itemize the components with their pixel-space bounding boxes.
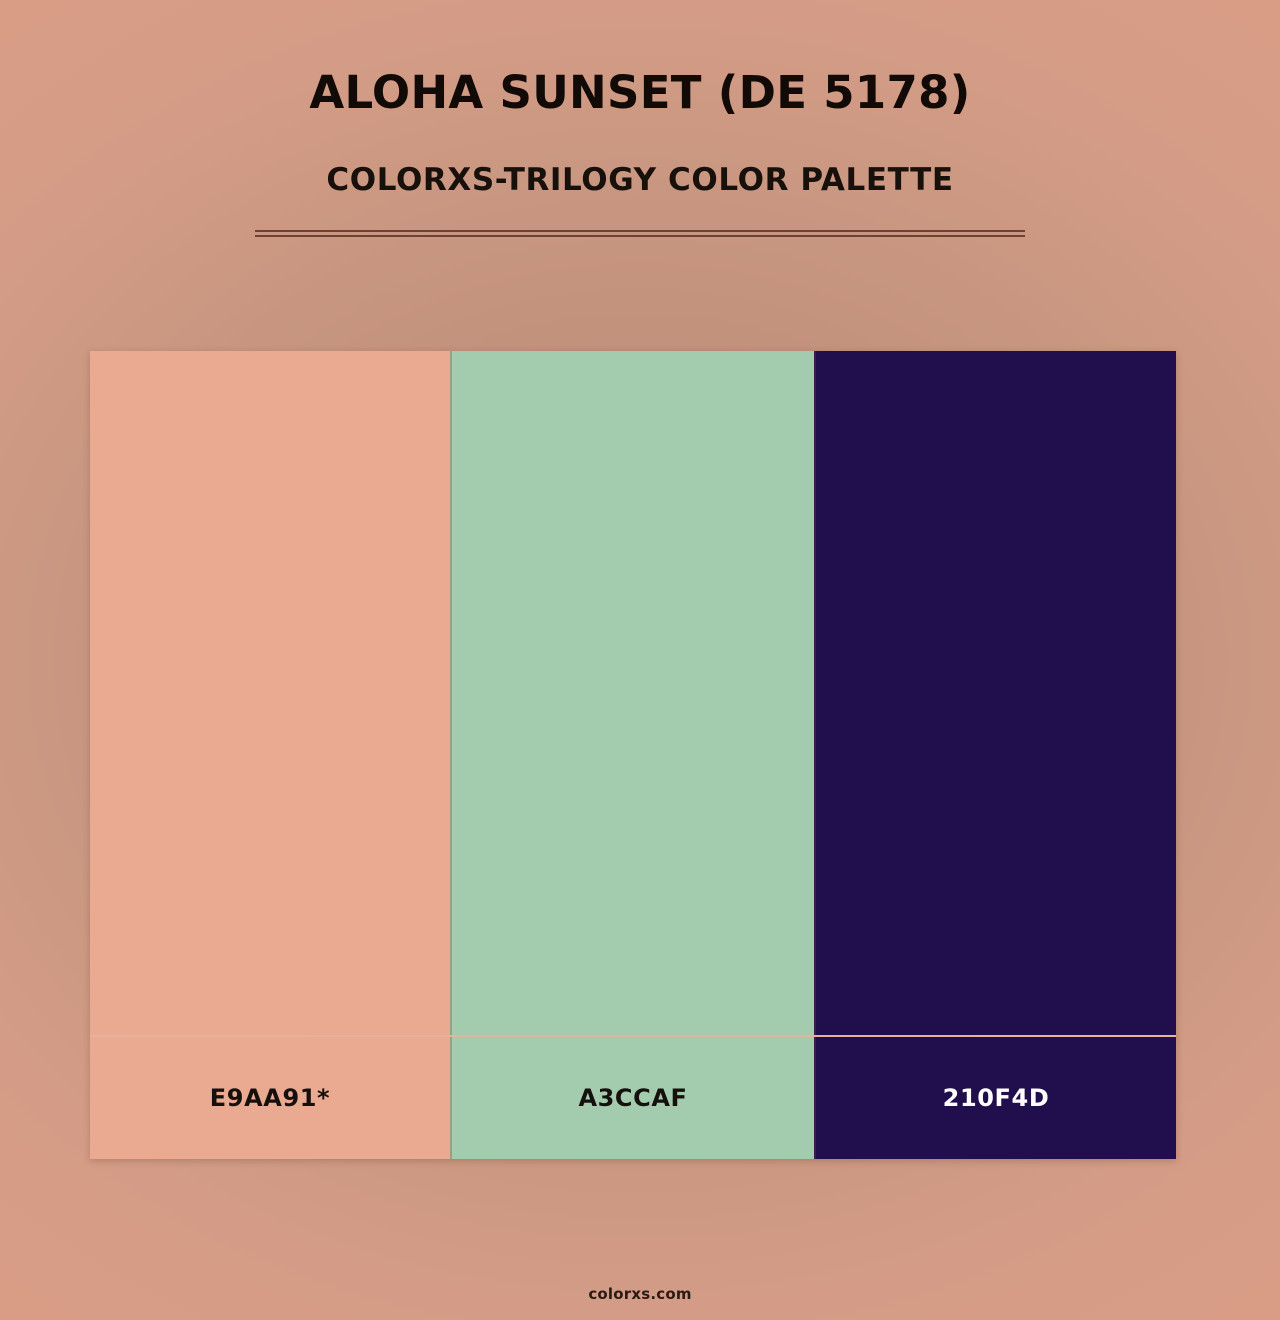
color-swatch-3[interactable] <box>814 351 1176 1035</box>
page-title: Aloha Sunset (DE 5178) <box>0 70 1280 115</box>
color-label-cell-2[interactable]: A3CCAF <box>450 1037 814 1159</box>
color-label-cell-1[interactable]: E9AA91* <box>90 1037 450 1159</box>
page-footer: colorxs.com <box>0 1284 1280 1303</box>
palette-block: E9AA91* A3CCAF 210F4D <box>90 351 1176 1159</box>
color-hex-label-2: A3CCAF <box>578 1086 687 1110</box>
color-hex-label-3: 210F4D <box>943 1086 1050 1110</box>
page-header: Aloha Sunset (DE 5178) Colorxs-Trilogy C… <box>0 0 1280 198</box>
swatch-label-row: E9AA91* A3CCAF 210F4D <box>90 1035 1176 1159</box>
divider-line-bottom <box>255 235 1025 237</box>
divider-line-top <box>255 230 1025 232</box>
page-subtitle: Colorxs-Trilogy Color Palette <box>0 115 1280 198</box>
site-credit[interactable]: colorxs.com <box>588 1285 691 1303</box>
color-label-cell-3[interactable]: 210F4D <box>814 1037 1176 1159</box>
color-swatch-1[interactable] <box>90 351 450 1035</box>
color-palette-page: Aloha Sunset (DE 5178) Colorxs-Trilogy C… <box>0 0 1280 1320</box>
header-divider <box>255 230 1025 237</box>
color-hex-label-1: E9AA91* <box>210 1086 330 1110</box>
color-swatch-2[interactable] <box>450 351 814 1035</box>
swatch-color-row <box>90 351 1176 1035</box>
